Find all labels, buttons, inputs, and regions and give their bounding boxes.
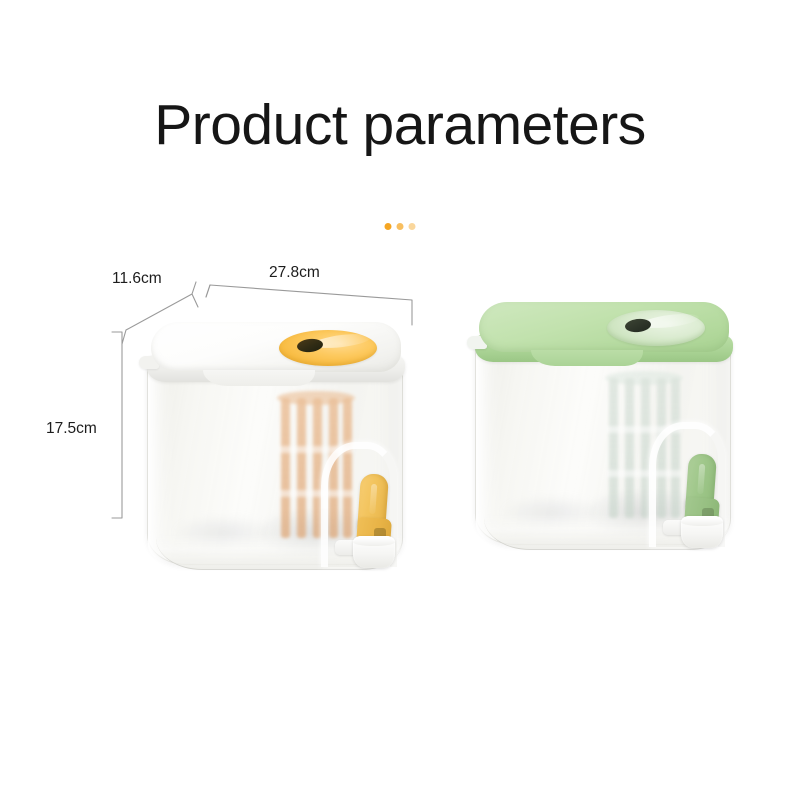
cap-finger-slot (296, 338, 323, 354)
spout-ring (353, 538, 395, 546)
pour-cap-green[interactable] (607, 310, 705, 346)
product-stage (0, 0, 800, 800)
lid-front-notch (203, 370, 315, 386)
cap-finger-slot (624, 318, 651, 334)
product-image-green (471, 302, 733, 550)
container-body-white (143, 356, 405, 570)
lever-groove (369, 484, 377, 514)
pour-cap-yellow[interactable] (279, 330, 377, 366)
container-body-green (471, 336, 733, 550)
strainer-column (297, 398, 306, 538)
lid-green[interactable] (479, 302, 729, 364)
spigot-white[interactable] (351, 474, 403, 568)
product-parameters-canvas: Product parameters 11.6cm 27.8cm 17.5cm (0, 0, 800, 800)
strainer-column (609, 378, 618, 518)
product-image-white (143, 322, 405, 570)
spigot-green[interactable] (679, 454, 731, 548)
spout-ring (681, 518, 723, 526)
lid-white[interactable] (151, 322, 401, 384)
strainer-column (625, 378, 634, 518)
lid-front-notch (531, 350, 643, 366)
lever-groove (697, 464, 705, 494)
strainer-column (281, 398, 290, 538)
